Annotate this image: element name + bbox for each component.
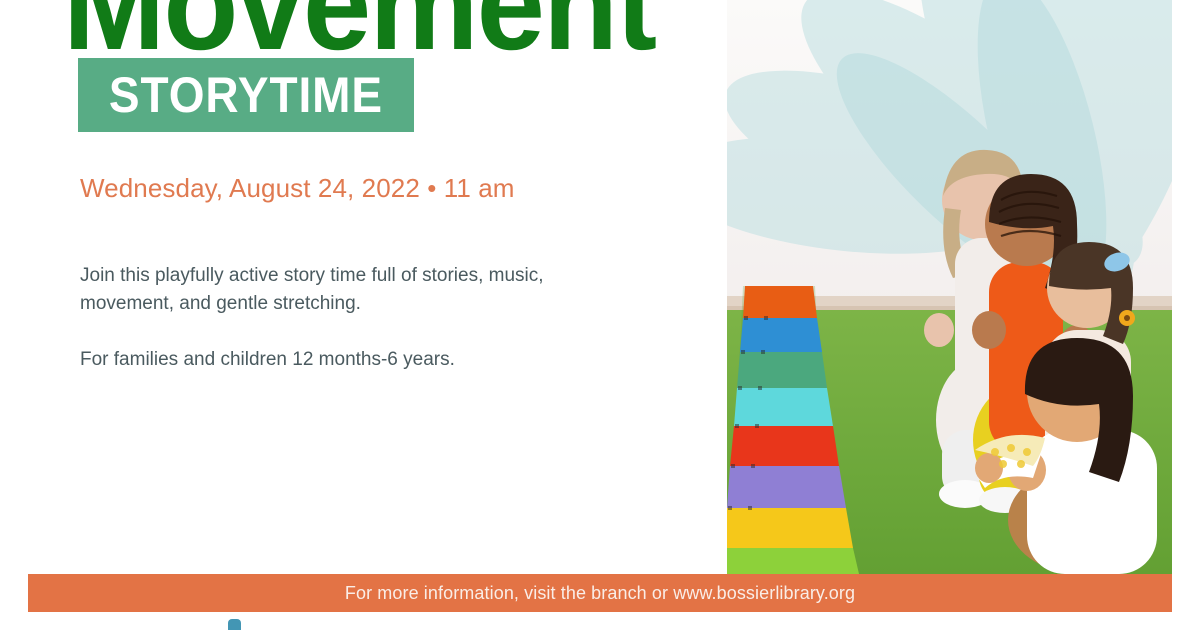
event-date-time: Wednesday, August 24, 2022 • 11 am <box>80 172 515 204</box>
event-flyer: Movement STORYTIME Wednesday, August 24,… <box>0 0 1200 630</box>
photo-illustration <box>727 0 1172 574</box>
description-paragraph-2: For families and children 12 months-6 ye… <box>80 346 640 374</box>
footer-info-bar: For more information, visit the branch o… <box>28 574 1172 612</box>
library-logo-fragment <box>228 619 241 630</box>
description-paragraph-1: Join this playfully active story time fu… <box>80 262 640 318</box>
footer-info-text: For more information, visit the branch o… <box>345 583 855 603</box>
event-photo <box>727 0 1172 574</box>
event-description: Join this playfully active story time fu… <box>80 262 640 374</box>
storytime-badge: STORYTIME <box>78 58 414 132</box>
storytime-badge-label: STORYTIME <box>109 70 383 120</box>
